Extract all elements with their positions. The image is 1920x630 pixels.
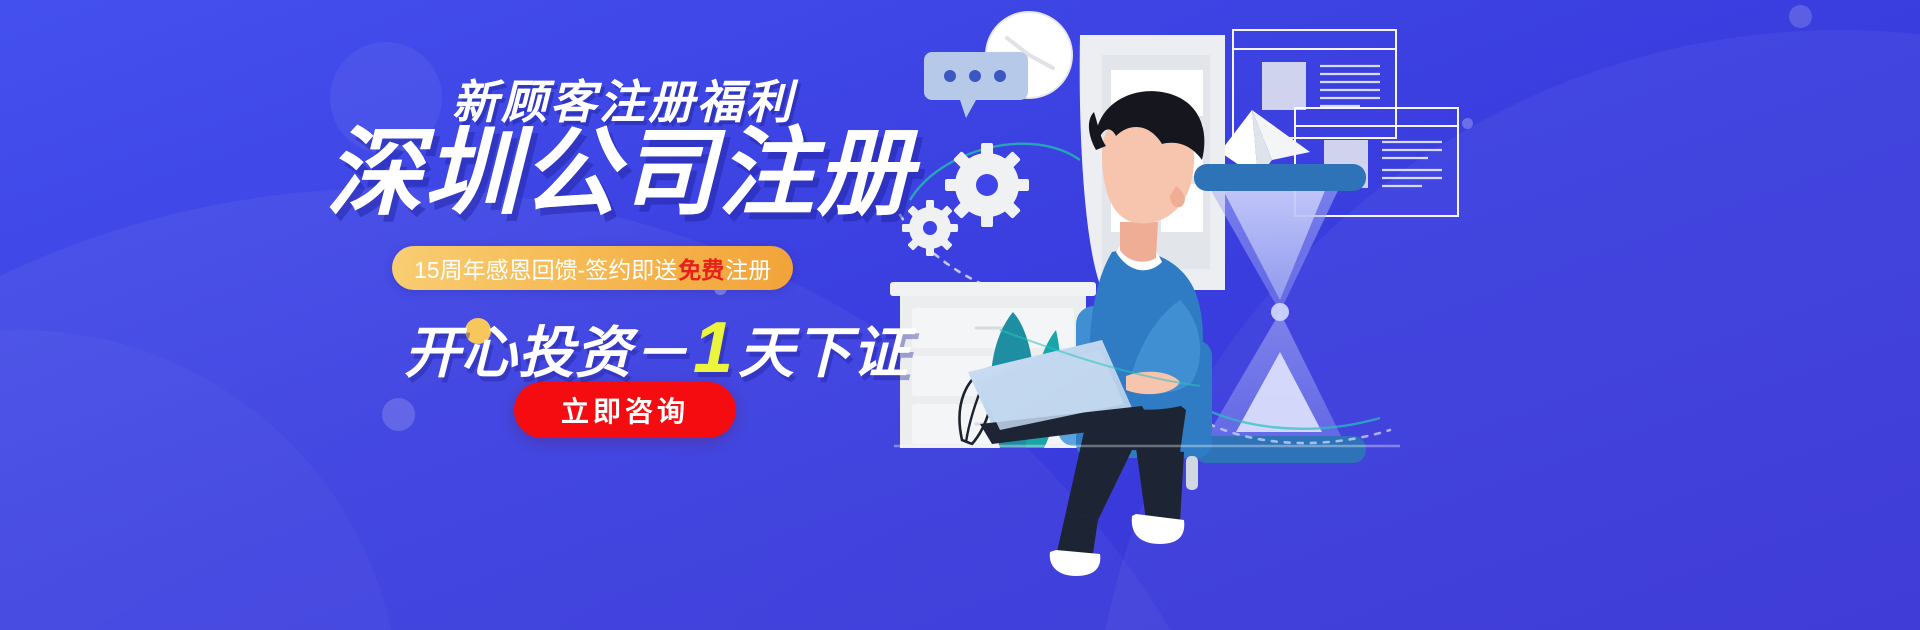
consult-now-button[interactable]: 立即咨询	[514, 382, 736, 438]
page-title: 深圳公司注册	[326, 126, 914, 222]
promo-badge: 15周年感恩回馈-签约即送 免费 注册	[392, 246, 793, 290]
copy-block: 新顾客注册福利 深圳公司注册 15周年感恩回馈-签约即送 免费 注册 开心投资－…	[0, 0, 960, 630]
badge-highlight: 免费	[677, 251, 725, 285]
illustration	[880, 0, 1920, 630]
badge-text-after: 注册	[725, 251, 771, 285]
tagline-suffix: 天下证	[738, 325, 909, 381]
tagline-number: 1	[689, 312, 738, 384]
tagline: 开心投资－ 1 天下证	[404, 312, 909, 384]
badge-text-before: 15周年感恩回馈-签约即送	[414, 251, 677, 285]
promo-banner: 新顾客注册福利 深圳公司注册 15周年感恩回馈-签约即送 免费 注册 开心投资－…	[0, 0, 1920, 630]
tagline-prefix: 开心投资－	[404, 325, 689, 381]
